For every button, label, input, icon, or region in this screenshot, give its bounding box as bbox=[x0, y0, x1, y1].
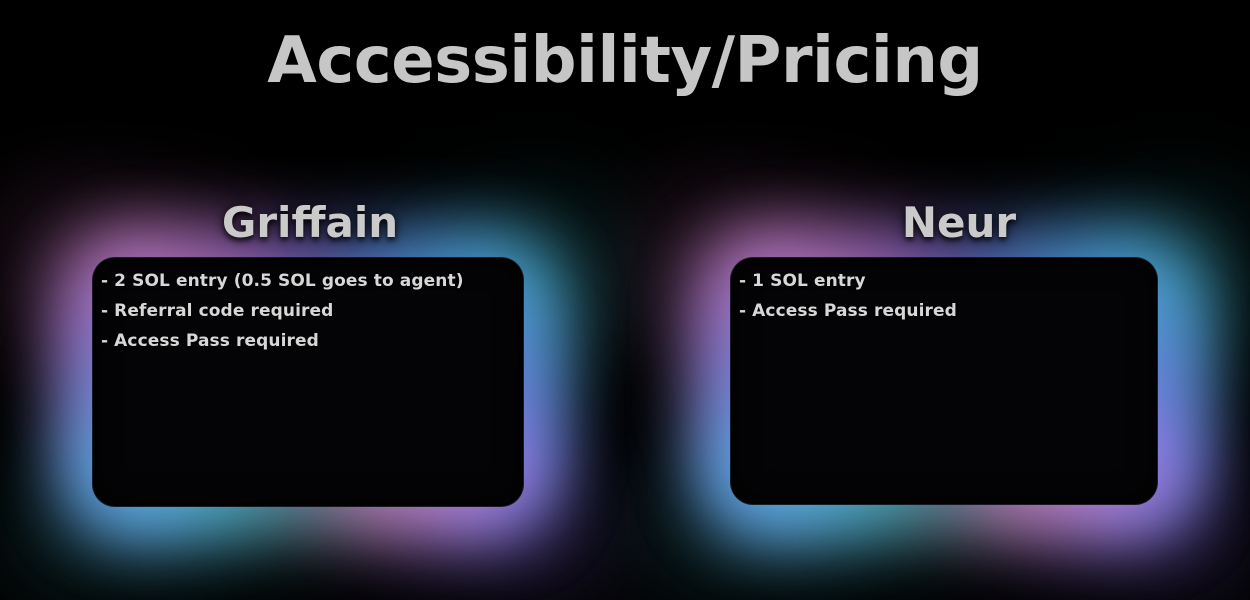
slide-canvas: Accessibility/Pricing Griffain - 2 SOL e… bbox=[0, 0, 1250, 600]
list-item: - Access Pass required bbox=[739, 296, 1143, 326]
comparison-column-neur: Neur - 1 SOL entry - Access Pass require… bbox=[683, 150, 1213, 508]
card-wrapper-neur: - 1 SOL entry - Access Pass required bbox=[683, 258, 1213, 508]
card-wrapper-griffain: - 2 SOL entry (0.5 SOL goes to agent) - … bbox=[45, 258, 575, 508]
column-heading-neur: Neur bbox=[683, 150, 1213, 244]
list-item: - Referral code required bbox=[101, 296, 509, 326]
page-title: Accessibility/Pricing bbox=[0, 28, 1250, 95]
card-body-neur: - 1 SOL entry - Access Pass required bbox=[731, 258, 1157, 326]
comparison-column-griffain: Griffain - 2 SOL entry (0.5 SOL goes to … bbox=[45, 150, 575, 508]
card-body-griffain: - 2 SOL entry (0.5 SOL goes to agent) - … bbox=[93, 258, 523, 356]
feature-card-griffain: - 2 SOL entry (0.5 SOL goes to agent) - … bbox=[93, 258, 523, 506]
feature-card-neur: - 1 SOL entry - Access Pass required bbox=[731, 258, 1157, 504]
column-heading-griffain: Griffain bbox=[45, 150, 575, 244]
list-item: - 1 SOL entry bbox=[739, 266, 1143, 296]
list-item: - 2 SOL entry (0.5 SOL goes to agent) bbox=[101, 266, 509, 296]
list-item: - Access Pass required bbox=[101, 326, 509, 356]
